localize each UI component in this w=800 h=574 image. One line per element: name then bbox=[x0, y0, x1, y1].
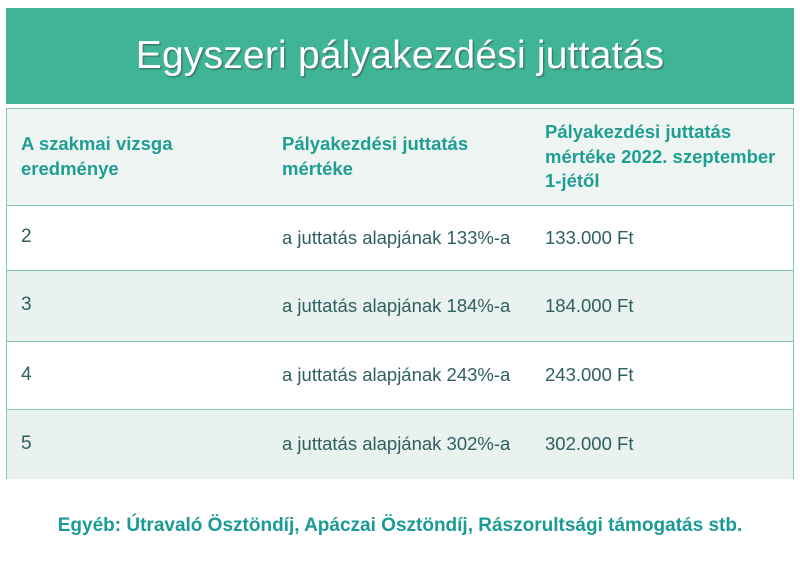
column-header-benefit-rate-2022: Pályakezdési juttatás mértéke 2022. szep… bbox=[531, 109, 793, 205]
table-header-row: A szakmai vizsga eredménye Pályakezdési … bbox=[7, 109, 793, 205]
footer-note: Egyéb: Útravaló Ösztöndíj, Apáczai Ösztö… bbox=[0, 512, 800, 540]
table-body: 2 a juttatás alapjának 133%-a 133.000 Ft… bbox=[7, 205, 793, 479]
cell-rate: a juttatás alapjának 133%-a bbox=[268, 205, 531, 270]
cell-amount: 184.000 Ft bbox=[531, 270, 793, 341]
benefit-table-container: A szakmai vizsga eredménye Pályakezdési … bbox=[6, 108, 794, 479]
table-row: 2 a juttatás alapjának 133%-a 133.000 Ft bbox=[7, 205, 793, 270]
slide-canvas: Egyszeri pályakezdési juttatás A szakmai… bbox=[0, 0, 800, 574]
title-banner: Egyszeri pályakezdési juttatás bbox=[6, 8, 794, 104]
column-header-benefit-rate: Pályakezdési juttatás mértéke bbox=[268, 109, 531, 205]
table-row: 4 a juttatás alapjának 243%-a 243.000 Ft bbox=[7, 341, 793, 409]
column-header-exam-result: A szakmai vizsga eredménye bbox=[7, 109, 268, 205]
cell-amount: 302.000 Ft bbox=[531, 409, 793, 479]
cell-rate: a juttatás alapjának 302%-a bbox=[268, 409, 531, 479]
table-row: 5 a juttatás alapjának 302%-a 302.000 Ft bbox=[7, 409, 793, 479]
cell-amount: 133.000 Ft bbox=[531, 205, 793, 270]
table-header: A szakmai vizsga eredménye Pályakezdési … bbox=[7, 109, 793, 205]
cell-rate: a juttatás alapjának 243%-a bbox=[268, 341, 531, 409]
cell-grade: 5 bbox=[7, 409, 268, 479]
cell-grade: 4 bbox=[7, 341, 268, 409]
cell-rate: a juttatás alapjának 184%-a bbox=[268, 270, 531, 341]
table-row: 3 a juttatás alapjának 184%-a 184.000 Ft bbox=[7, 270, 793, 341]
cell-grade: 2 bbox=[7, 205, 268, 270]
benefit-table: A szakmai vizsga eredménye Pályakezdési … bbox=[7, 109, 793, 479]
page-title: Egyszeri pályakezdési juttatás bbox=[136, 35, 664, 78]
cell-amount: 243.000 Ft bbox=[531, 341, 793, 409]
cell-grade: 3 bbox=[7, 270, 268, 341]
